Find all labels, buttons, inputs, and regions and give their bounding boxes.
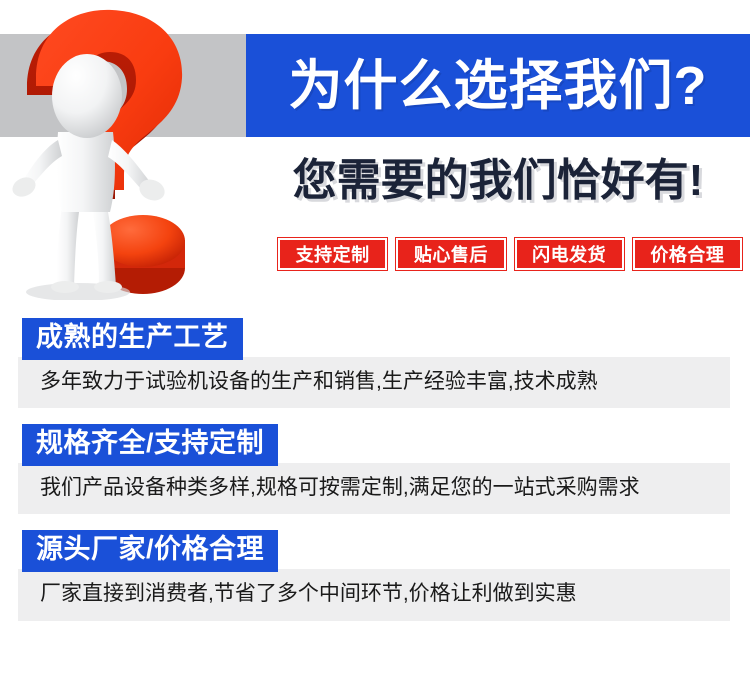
hero-artwork (0, 0, 246, 300)
badge-custom-support[interactable]: 支持定制 (278, 238, 387, 270)
benefit-item-specs: 规格齐全/支持定制 我们产品设备种类多样,规格可按需定制,满足您的一站式采购需求 (0, 424, 750, 514)
benefit-item-process: 成熟的生产工艺 多年致力于试验机设备的生产和销售,生产经验丰富,技术成熟 (0, 318, 750, 408)
promo-page: 为什么选择我们? 您需要的我们恰好有! 支持定制 贴心售后 闪电发货 价格合理 (0, 0, 750, 697)
badge-label: 支持定制 (296, 241, 370, 267)
mascot-head (52, 54, 122, 138)
badge-label: 贴心售后 (414, 241, 488, 267)
badge-fair-price[interactable]: 价格合理 (633, 238, 742, 270)
hero-section: 为什么选择我们? 您需要的我们恰好有! 支持定制 贴心售后 闪电发货 价格合理 (0, 0, 750, 300)
badge-label: 价格合理 (650, 241, 724, 267)
benefit-item-factory: 源头厂家/价格合理 厂家直接到消费者,节省了多个中间环节,价格让利做到实惠 (0, 530, 750, 620)
page-title: 为什么选择我们? (246, 34, 750, 137)
benefit-label: 规格齐全/支持定制 (22, 424, 278, 466)
benefit-label: 成熟的生产工艺 (22, 318, 243, 360)
benefits-list: 成熟的生产工艺 多年致力于试验机设备的生产和销售,生产经验丰富,技术成熟 规格齐… (0, 318, 750, 637)
badge-after-sales[interactable]: 贴心售后 (396, 238, 505, 270)
badge-fast-shipping[interactable]: 闪电发货 (515, 238, 624, 270)
benefit-body: 我们产品设备种类多样,规格可按需定制,满足您的一站式采购需求 (18, 463, 730, 515)
badge-label: 闪电发货 (532, 241, 606, 267)
benefit-body: 多年致力于试验机设备的生产和销售,生产经验丰富,技术成熟 (18, 357, 730, 409)
benefit-label: 源头厂家/价格合理 (22, 530, 278, 572)
feature-badge-row: 支持定制 贴心售后 闪电发货 价格合理 (278, 238, 742, 270)
page-subtitle: 您需要的我们恰好有! (246, 150, 750, 212)
benefit-body: 厂家直接到消费者,节省了多个中间环节,价格让利做到实惠 (18, 569, 730, 621)
